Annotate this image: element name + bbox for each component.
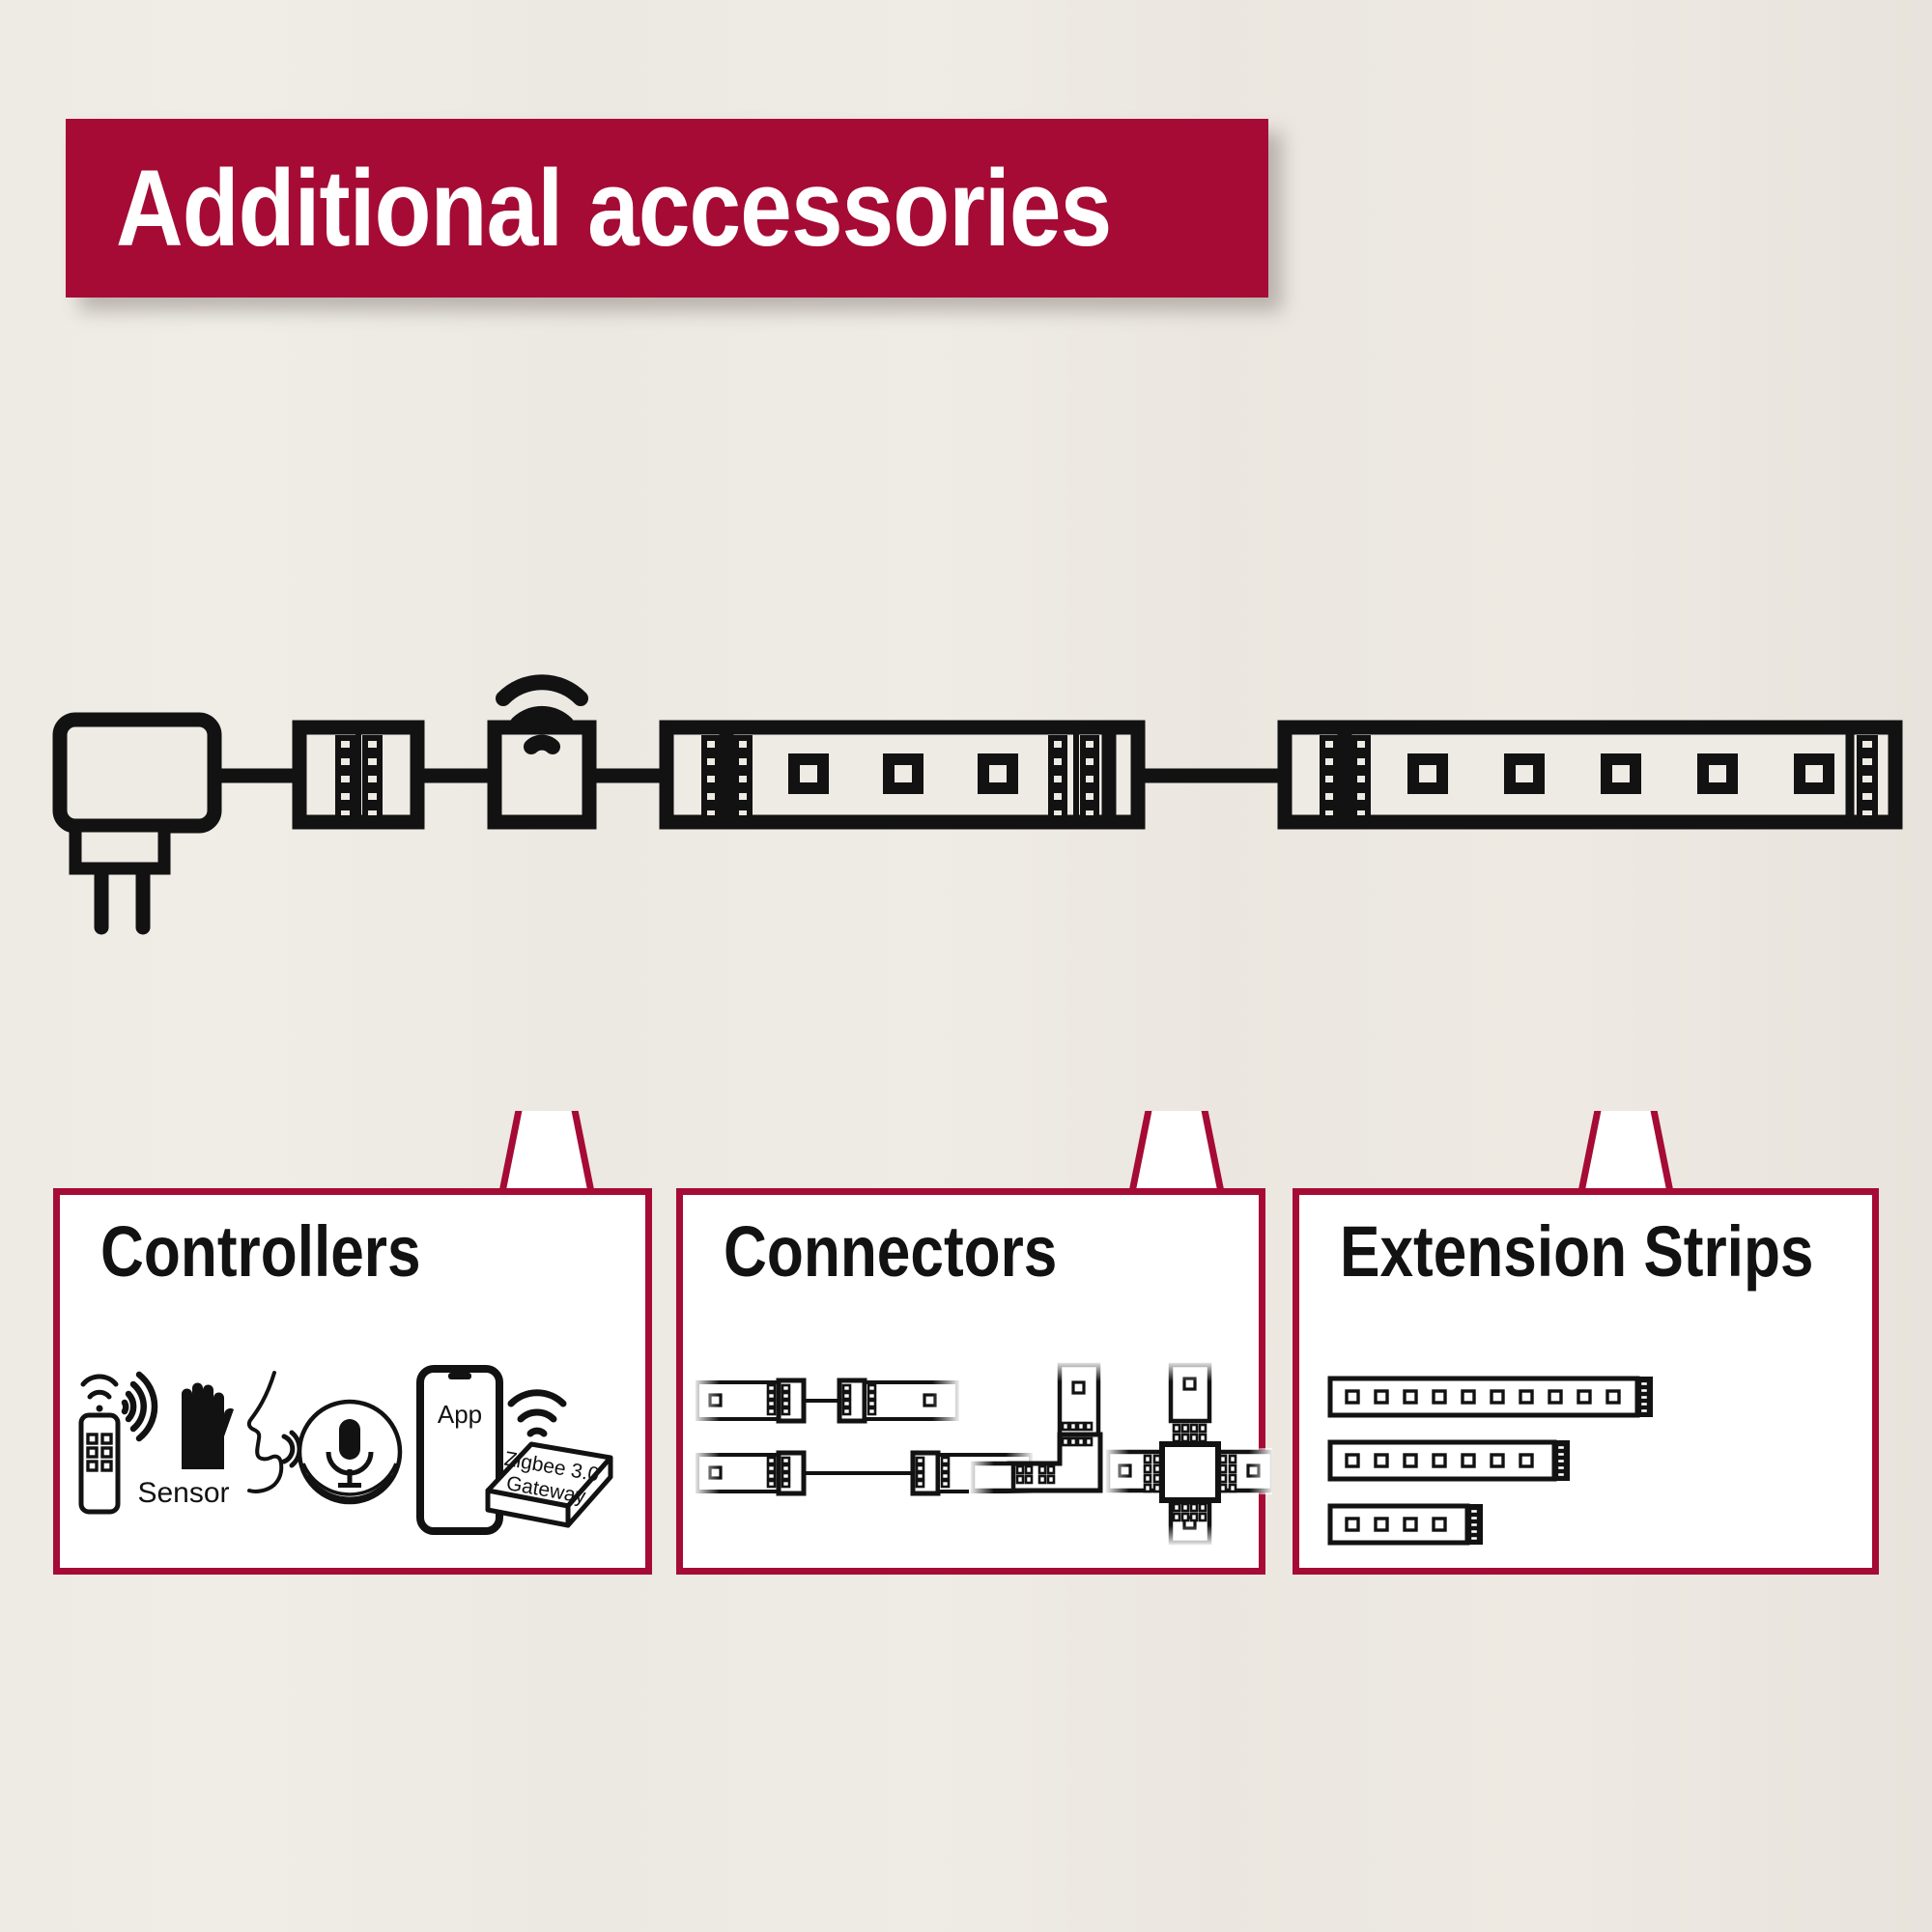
- face-profile: [249, 1373, 281, 1492]
- power-supply-plug-icon: [60, 720, 214, 927]
- extension-strip-long: [1330, 1378, 1651, 1415]
- led-strip-icon-2: [1285, 727, 1895, 822]
- card-connectors[interactable]: Connectors: [676, 1188, 1265, 1575]
- motion-sensor-hand-icon: [125, 1375, 234, 1469]
- card-controllers[interactable]: Controllers: [53, 1188, 652, 1575]
- strip-to-strip-short-cable-connector-icon: [693, 1377, 961, 1425]
- sensor-label: Sensor: [137, 1477, 229, 1509]
- led-dot: [1413, 759, 1442, 788]
- card-art-extension-strips: [1299, 1355, 1872, 1548]
- corner-l-connector-icon: [969, 1360, 1102, 1494]
- voice-assistant-speaker-icon: [249, 1373, 400, 1502]
- cross-x-connector-icon: [1104, 1360, 1272, 1547]
- extension-strip-medium: [1330, 1442, 1568, 1479]
- led-dot: [1800, 759, 1829, 788]
- led-dot: [983, 759, 1012, 788]
- callout-spike-extension: [1581, 1111, 1670, 1192]
- extension-strip-short: [1330, 1506, 1481, 1543]
- card-title-extension-strips: Extension Strips: [1340, 1216, 1813, 1288]
- card-title-connectors: Connectors: [724, 1216, 1057, 1288]
- led-dot: [794, 759, 823, 788]
- led-strip-icon-1: [667, 727, 1138, 822]
- led-dot: [1510, 759, 1539, 788]
- wifi-signal-icon-gateway: [511, 1393, 563, 1434]
- led-system-chain-diagram: [0, 618, 1932, 937]
- led-dot: [889, 759, 918, 788]
- remote-control-icon: [81, 1377, 118, 1512]
- page-title: Additional accessories: [116, 155, 1111, 263]
- page-title-banner: Additional accessories: [66, 119, 1268, 298]
- card-title-controllers: Controllers: [100, 1216, 421, 1288]
- app-label: App: [438, 1400, 482, 1429]
- card-art-controllers: Sensor: [60, 1355, 645, 1548]
- led-dot: [1703, 759, 1732, 788]
- phone-notch: [448, 1373, 471, 1379]
- callout-spike-connectors: [1132, 1111, 1221, 1192]
- card-extension-strips[interactable]: Extension Strips: [1293, 1188, 1879, 1575]
- card-art-connectors: [683, 1355, 1259, 1548]
- callout-spike-controllers: [502, 1111, 591, 1192]
- connector-icon-1: [299, 727, 417, 822]
- led-dot: [1606, 759, 1635, 788]
- hand-glyph: [182, 1383, 234, 1470]
